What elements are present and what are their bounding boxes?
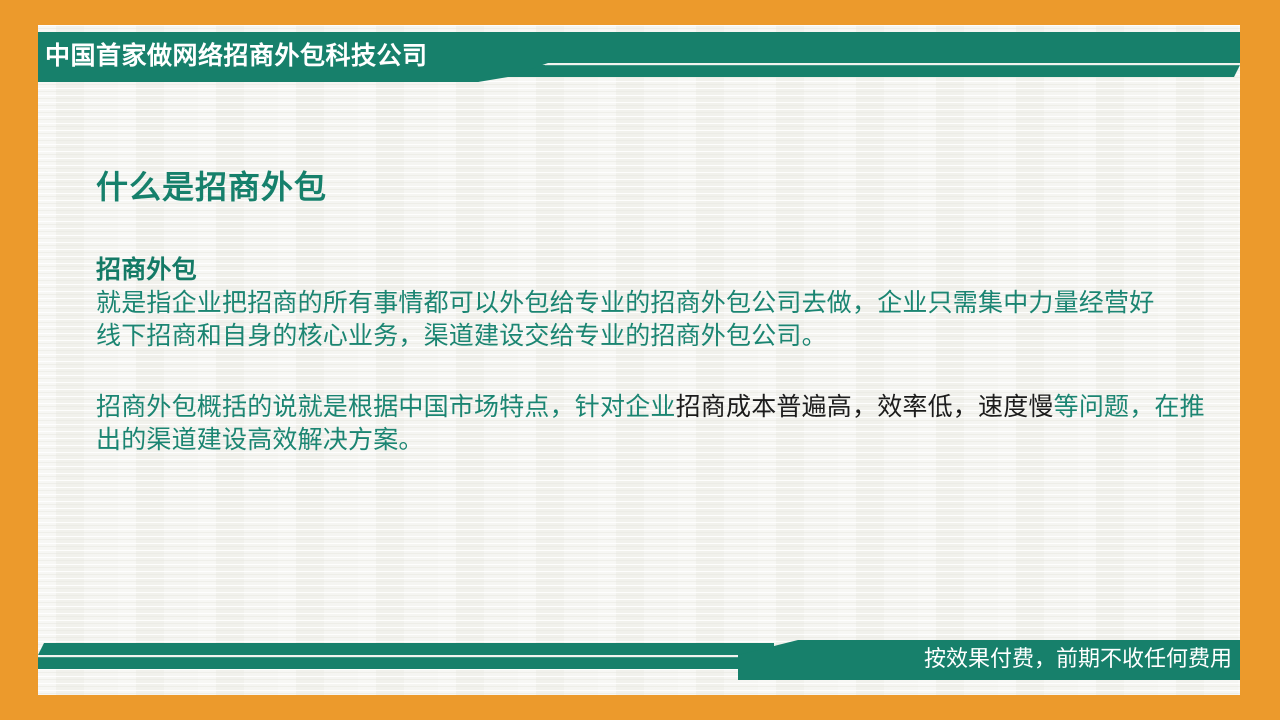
footer-banner-thin-bar-lower bbox=[38, 657, 774, 669]
summary-text-lead: 招商外包概括的说就是根据中国市场特点，针对企业 bbox=[96, 393, 676, 421]
header-banner-thin-bar-lower bbox=[506, 65, 1240, 77]
definition-block: 招商外包 就是指企业把招商的所有事情都可以外包给专业的招商外包公司去做，企业只需… bbox=[96, 254, 1226, 353]
slide-canvas: 中国首家做网络招商外包科技公司 什么是招商外包 招商外包 就是指企业把招商的所有… bbox=[0, 0, 1280, 720]
page-title: 什么是招商外包 bbox=[96, 168, 1226, 206]
term-label: 招商外包 bbox=[96, 254, 1226, 287]
header-banner-thin-bar bbox=[506, 32, 1240, 63]
header-banner-highlight-line bbox=[545, 63, 1240, 65]
definition-paragraph: 就是指企业把招商的所有事情都可以外包给专业的招商外包公司去做，企业只需集中力量经… bbox=[96, 287, 1156, 353]
footer-note: 按效果付费，前期不收任何费用 bbox=[924, 648, 1232, 670]
footer-banner-highlight-line bbox=[38, 655, 738, 657]
header-title: 中国首家做网络招商外包科技公司 bbox=[45, 44, 428, 69]
footer-banner-thin-bar bbox=[38, 643, 774, 655]
content-area: 什么是招商外包 招商外包 就是指企业把招商的所有事情都可以外包给专业的招商外包公… bbox=[96, 168, 1226, 457]
summary-block: 招商外包概括的说就是根据中国市场特点，针对企业招商成本普遍高，效率低，速度慢等问… bbox=[96, 391, 1226, 457]
summary-text-emphasis: 招商成本普遍高，效率低，速度慢 bbox=[676, 393, 1054, 421]
